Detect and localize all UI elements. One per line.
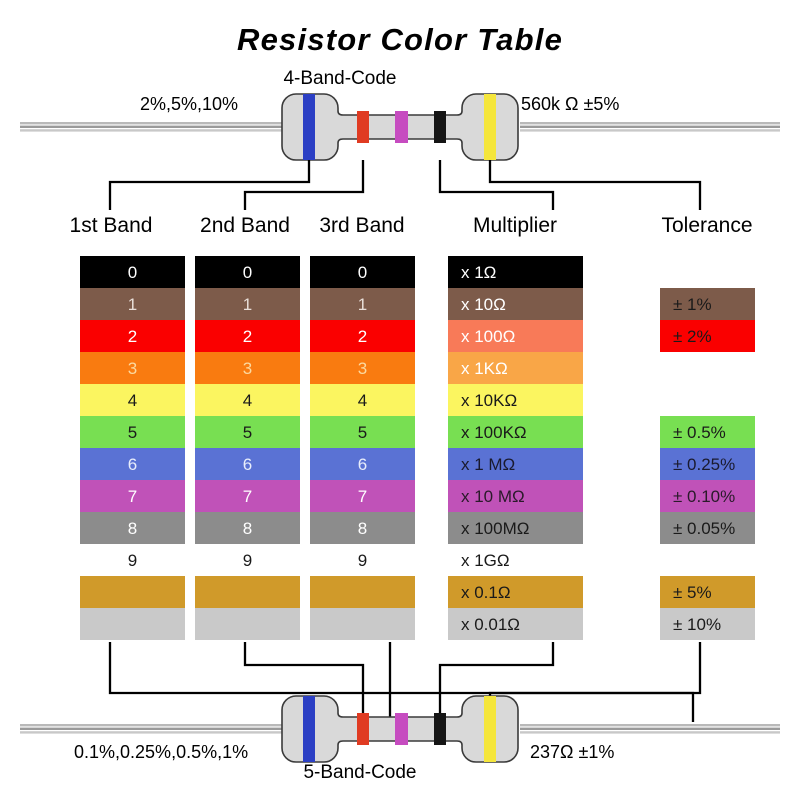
swatch-label: x 100MΩ bbox=[461, 520, 529, 537]
swatch-label: 0 bbox=[358, 264, 367, 281]
swatch-multiplier-brown: x 10Ω bbox=[448, 288, 583, 320]
swatch-label: 5 bbox=[128, 424, 137, 441]
swatch-band2-gray: 8 bbox=[195, 512, 300, 544]
swatch-label: 8 bbox=[243, 520, 252, 537]
swatch-multiplier-green: x 100KΩ bbox=[448, 416, 583, 448]
swatch-label: ± 0.10% bbox=[673, 488, 735, 505]
swatch-band3-silver bbox=[310, 608, 415, 640]
swatch-band1-black: 0 bbox=[80, 256, 185, 288]
swatch-label: 0 bbox=[128, 264, 137, 281]
column-header-multiplier: Multiplier bbox=[455, 214, 575, 238]
swatch-band3-yellow: 4 bbox=[310, 384, 415, 416]
swatch-label: 6 bbox=[358, 456, 367, 473]
column-header-1st-band: 1st Band bbox=[52, 214, 170, 238]
swatch-band1-silver bbox=[80, 608, 185, 640]
swatch-band2-green: 5 bbox=[195, 416, 300, 448]
swatch-label: 1 bbox=[358, 296, 367, 313]
swatch-tolerance-red: ± 2% bbox=[660, 320, 755, 352]
swatch-band3-black: 0 bbox=[310, 256, 415, 288]
swatch-multiplier-blue: x 1 MΩ bbox=[448, 448, 583, 480]
swatch-multiplier-gray: x 100MΩ bbox=[448, 512, 583, 544]
swatch-band3-red: 2 bbox=[310, 320, 415, 352]
band-3 bbox=[395, 111, 408, 143]
swatch-multiplier-silver: x 0.01Ω bbox=[448, 608, 583, 640]
swatch-label: 8 bbox=[358, 520, 367, 537]
column-header-2nd-band: 2nd Band bbox=[186, 214, 304, 238]
swatch-label: 0 bbox=[243, 264, 252, 281]
swatch-band2-yellow: 4 bbox=[195, 384, 300, 416]
swatch-band1-red: 2 bbox=[80, 320, 185, 352]
swatch-multiplier-violet: x 10 MΩ bbox=[448, 480, 583, 512]
band-2 bbox=[357, 713, 369, 745]
swatch-label: x 10 MΩ bbox=[461, 488, 525, 505]
swatch-tolerance-gray: ± 0.05% bbox=[660, 512, 755, 544]
column-header-3rd-band: 3rd Band bbox=[303, 214, 421, 238]
swatch-band3-white: 9 bbox=[310, 544, 415, 576]
swatch-label: 2 bbox=[243, 328, 252, 345]
swatch-band3-gold bbox=[310, 576, 415, 608]
swatch-band1-orange: 3 bbox=[80, 352, 185, 384]
swatch-band1-white: 9 bbox=[80, 544, 185, 576]
swatch-multiplier-red: x 100Ω bbox=[448, 320, 583, 352]
swatch-label: x 10Ω bbox=[461, 296, 506, 313]
band-4 bbox=[434, 713, 446, 745]
swatch-label: 3 bbox=[358, 360, 367, 377]
swatch-label: 9 bbox=[128, 552, 137, 569]
band-5 bbox=[484, 94, 496, 160]
swatch-band1-gold bbox=[80, 576, 185, 608]
swatch-band2-red: 2 bbox=[195, 320, 300, 352]
swatch-label: 1 bbox=[243, 296, 252, 313]
bottom-resistor-right-label: 237Ω ±1% bbox=[530, 742, 614, 763]
swatch-label: 4 bbox=[358, 392, 367, 409]
swatch-band1-blue: 6 bbox=[80, 448, 185, 480]
swatch-label: 7 bbox=[128, 488, 137, 505]
swatch-band2-orange: 3 bbox=[195, 352, 300, 384]
swatch-label: ± 0.05% bbox=[673, 520, 735, 537]
swatch-label: 6 bbox=[243, 456, 252, 473]
swatch-label: x 1 MΩ bbox=[461, 456, 515, 473]
swatch-band3-green: 5 bbox=[310, 416, 415, 448]
swatch-band2-gold bbox=[195, 576, 300, 608]
swatch-band3-blue: 6 bbox=[310, 448, 415, 480]
swatch-multiplier-white: x 1GΩ bbox=[448, 544, 583, 576]
top-resistor-caption: 4-Band-Code bbox=[250, 68, 430, 90]
top-resistor-graphic bbox=[20, 88, 780, 168]
swatch-label: 4 bbox=[243, 392, 252, 409]
band-5 bbox=[484, 696, 496, 762]
swatch-multiplier-orange: x 1KΩ bbox=[448, 352, 583, 384]
swatch-band2-brown: 1 bbox=[195, 288, 300, 320]
swatch-band3-orange: 3 bbox=[310, 352, 415, 384]
swatch-multiplier-black: x 1Ω bbox=[448, 256, 583, 288]
swatch-tolerance-silver: ± 10% bbox=[660, 608, 755, 640]
swatch-label: 1 bbox=[128, 296, 137, 313]
swatch-label: x 1GΩ bbox=[461, 552, 510, 569]
swatch-band1-brown: 1 bbox=[80, 288, 185, 320]
swatch-band2-violet: 7 bbox=[195, 480, 300, 512]
swatch-multiplier-yellow: x 10KΩ bbox=[448, 384, 583, 416]
swatch-label: ± 0.5% bbox=[673, 424, 726, 441]
swatch-label: x 100KΩ bbox=[461, 424, 527, 441]
swatch-band2-silver bbox=[195, 608, 300, 640]
swatch-band1-violet: 7 bbox=[80, 480, 185, 512]
swatch-label: 2 bbox=[358, 328, 367, 345]
swatch-label: ± 1% bbox=[673, 296, 712, 313]
band-1 bbox=[303, 94, 315, 160]
swatch-band1-green: 5 bbox=[80, 416, 185, 448]
swatch-band2-black: 0 bbox=[195, 256, 300, 288]
swatch-label: 3 bbox=[243, 360, 252, 377]
swatch-band3-brown: 1 bbox=[310, 288, 415, 320]
band-4 bbox=[434, 111, 446, 143]
swatch-label: 7 bbox=[243, 488, 252, 505]
page-title: Resistor Color Table bbox=[0, 22, 800, 58]
swatch-label: x 1KΩ bbox=[461, 360, 508, 377]
swatch-tolerance-gold: ± 5% bbox=[660, 576, 755, 608]
swatch-label: 6 bbox=[128, 456, 137, 473]
swatch-label: ± 10% bbox=[673, 616, 721, 633]
swatch-label: 9 bbox=[358, 552, 367, 569]
swatch-label: 4 bbox=[128, 392, 137, 409]
column-header-tolerance: Tolerance bbox=[624, 214, 790, 238]
band-1 bbox=[303, 696, 315, 762]
swatch-label: 2 bbox=[128, 328, 137, 345]
swatch-band3-gray: 8 bbox=[310, 512, 415, 544]
swatch-tolerance-brown: ± 1% bbox=[660, 288, 755, 320]
swatch-label: ± 2% bbox=[673, 328, 712, 345]
swatch-tolerance-violet: ± 0.10% bbox=[660, 480, 755, 512]
bottom-resistor-caption: 5-Band-Code bbox=[270, 762, 450, 784]
swatch-band2-blue: 6 bbox=[195, 448, 300, 480]
swatch-label: x 100Ω bbox=[461, 328, 515, 345]
swatch-tolerance-green: ± 0.5% bbox=[660, 416, 755, 448]
swatch-band2-white: 9 bbox=[195, 544, 300, 576]
swatch-band3-violet: 7 bbox=[310, 480, 415, 512]
resistor-color-table-diagram: Resistor Color Table 4-Band-Code 2%,5%,1… bbox=[0, 0, 800, 800]
swatch-label: 9 bbox=[243, 552, 252, 569]
swatch-label: x 1Ω bbox=[461, 264, 496, 281]
bottom-resistor-left-label: 0.1%,0.25%,0.5%,1% bbox=[74, 742, 248, 763]
swatch-label: ± 0.25% bbox=[673, 456, 735, 473]
swatch-tolerance-blue: ± 0.25% bbox=[660, 448, 755, 480]
swatch-label: x 0.1Ω bbox=[461, 584, 511, 601]
swatch-label: x 10KΩ bbox=[461, 392, 517, 409]
swatch-band1-gray: 8 bbox=[80, 512, 185, 544]
swatch-multiplier-gold: x 0.1Ω bbox=[448, 576, 583, 608]
swatch-label: 8 bbox=[128, 520, 137, 537]
swatch-band1-yellow: 4 bbox=[80, 384, 185, 416]
swatch-label: 5 bbox=[243, 424, 252, 441]
swatch-label: 3 bbox=[128, 360, 137, 377]
band-3 bbox=[395, 713, 408, 745]
band-2 bbox=[357, 111, 369, 143]
swatch-label: 7 bbox=[358, 488, 367, 505]
swatch-label: ± 5% bbox=[673, 584, 712, 601]
swatch-label: x 0.01Ω bbox=[461, 616, 520, 633]
swatch-label: 5 bbox=[358, 424, 367, 441]
